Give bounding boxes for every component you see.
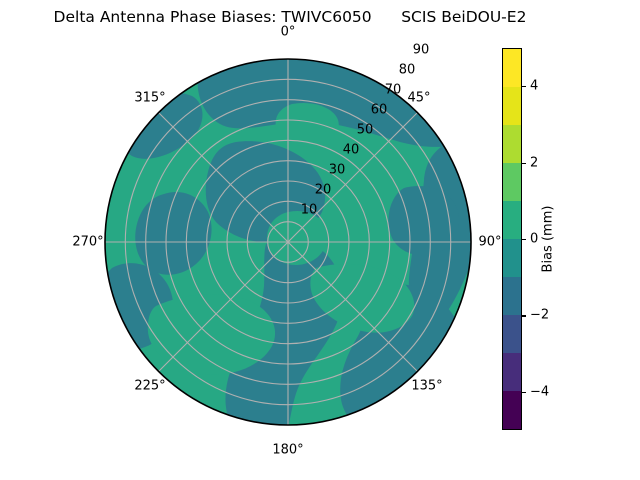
theta-tick-135: 135°: [411, 379, 442, 394]
r-tick-70: 70: [385, 83, 402, 98]
contour-band-neg1-to-0-east-mid: [388, 186, 459, 256]
matplotlib-figure: Delta Antenna Phase Biases: TWIVC6050 SC…: [0, 0, 640, 480]
theta-tick-315: 315°: [134, 91, 165, 106]
colorbar-ticklabel-0: 0: [530, 232, 538, 247]
colorbar-segment: [503, 87, 521, 125]
theta-tick-225: 225°: [134, 379, 165, 394]
colorbar-segment: [503, 353, 521, 391]
colorbar-segment: [503, 391, 521, 429]
r-tick-30: 30: [329, 163, 346, 178]
polar-grid-spokes: [105, 59, 471, 425]
colorbar-segment: [503, 163, 521, 201]
colorbar-segment: [503, 49, 521, 87]
colorbar-tick-neg2: [522, 315, 526, 316]
colorbar-segment: [503, 239, 521, 277]
colorbar-tick-2: [522, 163, 526, 164]
colorbar-ticklabel-neg4: −4: [530, 384, 549, 399]
colorbar-axis-label: Bias (mm): [541, 206, 556, 273]
colorbar-tick-neg4: [522, 392, 526, 393]
r-tick-10: 10: [301, 203, 318, 218]
r-tick-50: 50: [357, 123, 374, 138]
r-tick-60: 60: [371, 103, 388, 118]
colorbar-gradient[interactable]: [502, 48, 522, 430]
colorbar-ticklabel-neg2: −2: [530, 308, 549, 323]
r-tick-20: 20: [315, 183, 332, 198]
r-tick-80: 80: [399, 63, 416, 78]
theta-tick-180: 180°: [272, 443, 303, 458]
colorbar-tick-4: [522, 86, 526, 87]
colorbar-ticklabel-2: 2: [530, 155, 538, 170]
colorbar-segment: [503, 125, 521, 163]
theta-tick-45: 45°: [407, 91, 430, 106]
theta-tick-90: 90°: [478, 235, 501, 250]
colorbar-segment: [503, 201, 521, 239]
polar-axes: 0° 45° 90° 135° 180° 225° 270° 315° 10 2…: [60, 38, 480, 458]
colorbar[interactable]: 4 2 0 −2 −4: [502, 48, 522, 430]
theta-tick-0: 0°: [281, 25, 296, 40]
colorbar-segment: [503, 315, 521, 353]
figure-title: Delta Antenna Phase Biases: TWIVC6050 SC…: [0, 8, 580, 26]
theta-tick-270: 270°: [72, 235, 103, 250]
r-tick-40: 40: [343, 143, 360, 158]
colorbar-segment: [503, 277, 521, 315]
r-tick-90: 90: [413, 43, 430, 58]
colorbar-ticklabel-4: 4: [530, 79, 538, 94]
colorbar-tick-0: [522, 239, 526, 240]
